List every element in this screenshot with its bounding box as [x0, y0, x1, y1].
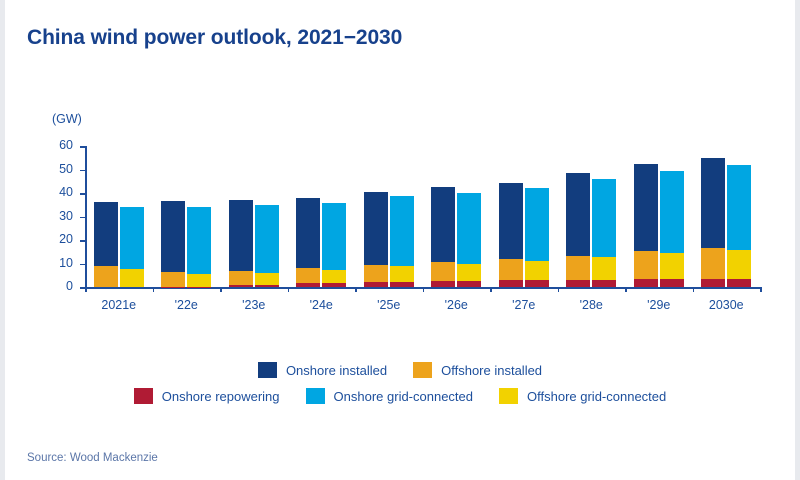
bar-segment-onshore-repowering — [701, 279, 725, 287]
bar-segment-onshore-repowering — [566, 280, 590, 287]
legend-item[interactable]: Onshore grid-connected — [306, 388, 473, 404]
bar-segment-onshore-installed — [566, 173, 590, 256]
x-axis-tick — [153, 287, 155, 292]
bar-segment-offshore-installed — [296, 268, 320, 283]
bar-segment-offshore-grid-connected — [120, 269, 144, 287]
legend-row: Onshore installedOffshore installed — [0, 362, 800, 378]
bar-segment-onshore-repowering — [255, 285, 279, 287]
bar-segment-onshore-repowering — [229, 285, 253, 287]
bar-segment-offshore-installed — [701, 248, 725, 279]
bar-segment-onshore-grid-connected — [525, 188, 549, 261]
bar-segment-offshore-grid-connected — [255, 273, 279, 285]
bar-segment-onshore-repowering — [592, 280, 616, 287]
bar-segment-onshore-grid-connected — [592, 179, 616, 257]
bar-segment-offshore-installed — [94, 266, 118, 287]
bar-segment-onshore-repowering — [296, 283, 320, 287]
x-axis-tick — [490, 287, 492, 292]
offshore-installed-swatch — [413, 362, 432, 378]
y-axis-unit-label: (GW) — [52, 112, 82, 126]
legend-item-label: Offshore installed — [441, 363, 542, 378]
bar-segment-onshore-installed — [229, 200, 253, 271]
bar-segment-offshore-installed — [566, 256, 590, 280]
x-axis-tick-label: 2030e — [709, 298, 744, 312]
bar-installed — [701, 158, 725, 287]
bar-segment-offshore-grid-connected — [660, 253, 684, 280]
x-axis-tick-label: '26e — [445, 298, 468, 312]
onshore-grid-connected-swatch — [306, 388, 325, 404]
y-axis-tick-label: 40 — [59, 185, 73, 199]
y-axis-tick: 10 — [80, 264, 85, 266]
bar-segment-offshore-grid-connected — [457, 264, 481, 281]
bar-grid-connected — [525, 188, 549, 287]
y-axis-tick-label: 20 — [59, 232, 73, 246]
x-axis-tick-label: '27e — [512, 298, 535, 312]
y-axis-tick-label: 50 — [59, 162, 73, 176]
bar-segment-offshore-installed — [229, 271, 253, 285]
y-axis-tick-label: 0 — [66, 279, 73, 293]
plot-area: 0102030405060 2021e'22e'23e'24e'25e'26e'… — [85, 146, 760, 287]
bar-segment-offshore-grid-connected — [390, 266, 414, 282]
x-axis-tick — [760, 287, 762, 292]
bar-installed — [94, 202, 118, 287]
bar-segment-onshore-installed — [431, 187, 455, 262]
bar-grid-connected — [187, 207, 211, 287]
chart-legend: Onshore installedOffshore installedOnsho… — [0, 362, 800, 414]
x-axis-tick-label: '23e — [242, 298, 265, 312]
x-axis-tick — [288, 287, 290, 292]
legend-item[interactable]: Offshore grid-connected — [499, 388, 666, 404]
x-axis-tick-label: '28e — [580, 298, 603, 312]
bar-installed — [296, 198, 320, 287]
offshore-grid-connected-swatch — [499, 388, 518, 404]
legend-item[interactable]: Offshore installed — [413, 362, 542, 378]
bar-segment-onshore-repowering — [634, 279, 658, 287]
bar-segment-offshore-installed — [364, 265, 388, 282]
x-axis-tick-label: '29e — [647, 298, 670, 312]
x-axis-tick — [558, 287, 560, 292]
bar-segment-offshore-installed — [634, 251, 658, 279]
bar-installed — [566, 173, 590, 287]
legend-item-label: Onshore installed — [286, 363, 387, 378]
bar-grid-connected — [727, 165, 751, 287]
bar-segment-onshore-repowering — [499, 280, 523, 287]
bar-segment-offshore-grid-connected — [525, 261, 549, 280]
onshore-installed-swatch — [258, 362, 277, 378]
page-title: China wind power outlook, 2021−2030 — [27, 26, 402, 50]
legend-item[interactable]: Onshore installed — [258, 362, 387, 378]
bar-grid-connected — [120, 207, 144, 287]
bar-grid-connected — [457, 193, 481, 287]
bar-segment-offshore-installed — [161, 272, 185, 287]
y-axis-line — [85, 146, 87, 287]
legend-item-label: Onshore repowering — [162, 389, 280, 404]
y-axis-tick-label: 60 — [59, 138, 73, 152]
bar-segment-onshore-installed — [94, 202, 118, 266]
bar-segment-onshore-grid-connected — [120, 207, 144, 269]
bar-segment-onshore-grid-connected — [187, 207, 211, 274]
legend-row: Onshore repoweringOnshore grid-connected… — [0, 388, 800, 404]
x-axis-tick — [220, 287, 222, 292]
x-axis-tick — [625, 287, 627, 292]
y-axis-tick: 40 — [80, 193, 85, 195]
bar-segment-offshore-grid-connected — [727, 250, 751, 279]
bar-segment-onshore-repowering — [660, 279, 684, 287]
bar-installed — [634, 164, 658, 287]
bar-segment-onshore-grid-connected — [390, 196, 414, 266]
bar-segment-offshore-grid-connected — [187, 274, 211, 287]
x-axis-tick — [423, 287, 425, 292]
bar-segment-onshore-repowering — [727, 279, 751, 287]
bar-grid-connected — [255, 205, 279, 287]
bar-segment-offshore-grid-connected — [592, 257, 616, 280]
bar-segment-onshore-repowering — [322, 283, 346, 287]
bar-installed — [364, 192, 388, 287]
bar-installed — [229, 200, 253, 287]
bar-grid-connected — [390, 196, 414, 287]
x-axis-tick-label: '25e — [377, 298, 400, 312]
x-axis-tick — [693, 287, 695, 292]
bar-segment-onshore-installed — [499, 183, 523, 260]
legend-item-label: Offshore grid-connected — [527, 389, 666, 404]
bar-grid-connected — [660, 171, 684, 287]
bar-segment-onshore-installed — [161, 201, 185, 272]
bar-segment-onshore-installed — [634, 164, 658, 251]
bar-segment-offshore-installed — [431, 262, 455, 281]
legend-item-label: Onshore grid-connected — [334, 389, 473, 404]
legend-item[interactable]: Onshore repowering — [134, 388, 280, 404]
y-axis-tick: 30 — [80, 217, 85, 219]
bar-grid-connected — [592, 179, 616, 287]
bar-installed — [431, 187, 455, 287]
bar-installed — [499, 183, 523, 287]
bar-segment-onshore-grid-connected — [322, 203, 346, 270]
x-axis-tick-label: 2021e — [101, 298, 136, 312]
bar-segment-onshore-grid-connected — [660, 171, 684, 252]
bar-segment-onshore-grid-connected — [255, 205, 279, 274]
chart-page: China wind power outlook, 2021−2030 (GW)… — [0, 0, 800, 480]
y-axis-tick: 60 — [80, 146, 85, 148]
source-note: Source: Wood Mackenzie — [27, 452, 158, 464]
y-axis-tick: 20 — [80, 240, 85, 242]
bar-segment-onshore-repowering — [364, 282, 388, 287]
onshore-repowering-swatch — [134, 388, 153, 404]
bar-segment-onshore-repowering — [457, 281, 481, 287]
y-axis-tick: 50 — [80, 170, 85, 172]
bar-grid-connected — [322, 203, 346, 287]
x-axis-tick-label: '24e — [310, 298, 333, 312]
bar-segment-onshore-grid-connected — [727, 165, 751, 250]
bar-segment-offshore-installed — [499, 259, 523, 280]
bar-segment-onshore-repowering — [525, 280, 549, 287]
y-axis-tick-label: 30 — [59, 209, 73, 223]
bar-segment-onshore-installed — [364, 192, 388, 265]
y-axis-tick-label: 10 — [59, 256, 73, 270]
x-axis-tick — [85, 287, 87, 292]
bar-segment-onshore-grid-connected — [457, 193, 481, 264]
x-axis-tick — [355, 287, 357, 292]
bar-segment-offshore-grid-connected — [322, 270, 346, 283]
bar-installed — [161, 201, 185, 287]
bar-segment-onshore-installed — [296, 198, 320, 268]
bar-segment-onshore-installed — [701, 158, 725, 247]
bar-segment-onshore-repowering — [390, 282, 414, 287]
bar-segment-onshore-repowering — [431, 281, 455, 287]
x-axis-tick-label: '22e — [175, 298, 198, 312]
